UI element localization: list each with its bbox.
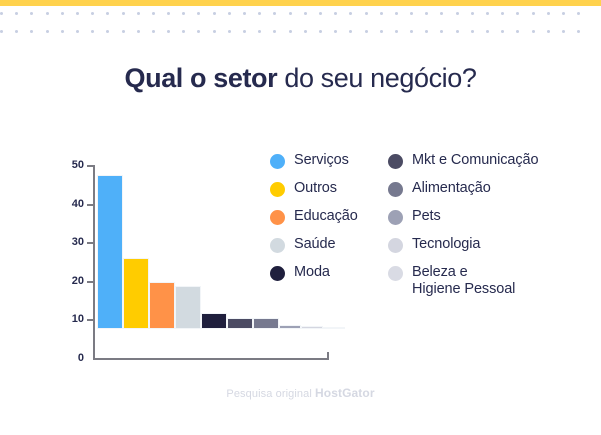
decorative-dot bbox=[440, 30, 443, 33]
dot-row-bottom bbox=[0, 30, 601, 34]
decorative-dot bbox=[258, 30, 261, 33]
footer-credit: Pesquisa original HostGator bbox=[0, 386, 601, 400]
y-axis-tick-label: 30 bbox=[58, 237, 84, 247]
legend-color-dot-icon bbox=[388, 238, 403, 253]
legend-color-dot-icon bbox=[270, 154, 285, 169]
decorative-dot bbox=[380, 12, 383, 15]
legend-color-dot-icon bbox=[388, 182, 403, 197]
decorative-dot bbox=[106, 12, 109, 15]
page-title: Qual o setor do seu negócio? bbox=[0, 63, 601, 94]
brand-name: HostGator bbox=[315, 386, 375, 400]
decorative-dot bbox=[167, 12, 170, 15]
legend-item-label: Mkt e Comunicação bbox=[412, 152, 538, 169]
legend-item[interactable]: Saúde bbox=[270, 236, 385, 255]
decorative-dot bbox=[532, 12, 535, 15]
legend-item[interactable]: Mkt e Comunicação bbox=[388, 152, 588, 171]
chart-bar bbox=[323, 327, 345, 329]
y-axis-tick-mark bbox=[87, 281, 94, 283]
decorative-dot bbox=[122, 12, 125, 15]
decorative-dot bbox=[76, 12, 79, 15]
legend-color-dot-icon bbox=[270, 266, 285, 281]
decorative-dot bbox=[365, 30, 368, 33]
legend-item[interactable]: Moda bbox=[270, 264, 385, 283]
chart-bar bbox=[201, 313, 227, 329]
legend-item-label: Moda bbox=[294, 264, 330, 281]
legend-item[interactable]: Tecnologia bbox=[388, 236, 588, 255]
decorative-dot bbox=[289, 30, 292, 33]
decorative-dot bbox=[532, 30, 535, 33]
decorative-dot bbox=[471, 12, 474, 15]
footer-prefix: Pesquisa original bbox=[226, 388, 315, 400]
legend-item-label: Saúde bbox=[294, 236, 335, 253]
chart-bar bbox=[279, 325, 301, 329]
decorative-dot bbox=[410, 12, 413, 15]
decorative-dot bbox=[349, 12, 352, 15]
decorative-dot bbox=[228, 30, 231, 33]
y-axis-tick-label: 20 bbox=[58, 276, 84, 286]
decorative-dot bbox=[182, 30, 185, 33]
chart-bar bbox=[149, 282, 175, 329]
decorative-dot bbox=[197, 30, 200, 33]
decorative-dot bbox=[456, 30, 459, 33]
legend-item-label: Beleza e Higiene Pessoal bbox=[412, 264, 515, 298]
decorative-dot bbox=[577, 12, 580, 15]
decorative-dot bbox=[182, 12, 185, 15]
legend-item[interactable]: Outros bbox=[270, 180, 385, 199]
decorative-dot bbox=[410, 30, 413, 33]
decorative-dot bbox=[425, 12, 428, 15]
legend-column-right: Mkt e ComunicaçãoAlimentaçãoPetsTecnolog… bbox=[388, 152, 588, 307]
legend-item[interactable]: Beleza e Higiene Pessoal bbox=[388, 264, 588, 298]
chart-bar bbox=[175, 286, 201, 329]
decorative-dot bbox=[213, 12, 216, 15]
decorative-dot bbox=[289, 12, 292, 15]
chart-bar bbox=[301, 326, 323, 329]
decorative-dot bbox=[562, 30, 565, 33]
legend-color-dot-icon bbox=[270, 238, 285, 253]
y-axis-tick-label: 10 bbox=[58, 314, 84, 324]
decorative-dot bbox=[91, 12, 94, 15]
decorative-dot bbox=[30, 12, 33, 15]
decorative-dot bbox=[258, 12, 261, 15]
decorative-dot bbox=[152, 30, 155, 33]
dot-pattern-decoration bbox=[0, 7, 601, 41]
chart-bar bbox=[253, 318, 279, 329]
legend-item-label: Pets bbox=[412, 208, 441, 225]
page-title-regular: do seu negócio? bbox=[277, 63, 476, 93]
decorative-dot bbox=[501, 12, 504, 15]
decorative-dot bbox=[61, 30, 64, 33]
legend-color-dot-icon bbox=[270, 182, 285, 197]
decorative-dot bbox=[0, 12, 3, 15]
decorative-dot bbox=[0, 30, 3, 33]
decorative-dot bbox=[273, 12, 276, 15]
decorative-dot bbox=[243, 30, 246, 33]
decorative-dot bbox=[243, 12, 246, 15]
y-axis-labels: 01020304050 bbox=[58, 160, 84, 360]
x-axis-line bbox=[93, 358, 329, 360]
decorative-dot bbox=[562, 12, 565, 15]
decorative-dot bbox=[30, 30, 33, 33]
legend-color-dot-icon bbox=[388, 210, 403, 225]
decorative-dot bbox=[319, 30, 322, 33]
decorative-dot bbox=[304, 12, 307, 15]
chart-legend: ServiçosOutrosEducaçãoSaúdeModa Mkt e Co… bbox=[270, 152, 590, 292]
legend-item[interactable]: Serviços bbox=[270, 152, 385, 171]
decorative-dot bbox=[547, 30, 550, 33]
page-title-bold: Qual o setor bbox=[125, 63, 278, 93]
decorative-dot bbox=[15, 30, 18, 33]
legend-color-dot-icon bbox=[388, 266, 403, 281]
legend-item[interactable]: Pets bbox=[388, 208, 588, 227]
decorative-dot bbox=[334, 30, 337, 33]
decorative-dot bbox=[486, 30, 489, 33]
legend-item[interactable]: Educação bbox=[270, 208, 385, 227]
legend-item[interactable]: Alimentação bbox=[388, 180, 588, 199]
decorative-dot bbox=[349, 30, 352, 33]
decorative-dot bbox=[152, 12, 155, 15]
decorative-dot bbox=[273, 30, 276, 33]
decorative-dot bbox=[486, 12, 489, 15]
dot-row-top bbox=[0, 12, 601, 16]
decorative-dot bbox=[137, 12, 140, 15]
decorative-dot bbox=[395, 30, 398, 33]
decorative-dot bbox=[577, 30, 580, 33]
decorative-dot bbox=[15, 12, 18, 15]
decorative-dot bbox=[501, 30, 504, 33]
y-axis-tick-label: 40 bbox=[58, 199, 84, 209]
decorative-dot bbox=[547, 12, 550, 15]
y-axis-tick-mark bbox=[87, 204, 94, 206]
decorative-dot bbox=[365, 12, 368, 15]
chart-bar bbox=[97, 175, 123, 329]
decorative-dot bbox=[91, 30, 94, 33]
decorative-dot bbox=[425, 30, 428, 33]
legend-item-label: Alimentação bbox=[412, 180, 491, 197]
top-accent-bar bbox=[0, 0, 601, 6]
legend-item-label: Educação bbox=[294, 208, 358, 225]
decorative-dot bbox=[228, 12, 231, 15]
decorative-dot bbox=[197, 12, 200, 15]
decorative-dot bbox=[516, 30, 519, 33]
decorative-dot bbox=[516, 12, 519, 15]
y-axis-tick-mark bbox=[87, 319, 94, 321]
decorative-dot bbox=[167, 30, 170, 33]
legend-item-label: Tecnologia bbox=[412, 236, 480, 253]
decorative-dot bbox=[213, 30, 216, 33]
chart-bar bbox=[123, 258, 149, 329]
decorative-dot bbox=[106, 30, 109, 33]
legend-color-dot-icon bbox=[388, 154, 403, 169]
decorative-dot bbox=[304, 30, 307, 33]
decorative-dot bbox=[61, 12, 64, 15]
legend-color-dot-icon bbox=[270, 210, 285, 225]
decorative-dot bbox=[46, 30, 49, 33]
y-axis-tick-mark bbox=[87, 242, 94, 244]
y-axis-tick-label: 0 bbox=[58, 353, 84, 363]
decorative-dot bbox=[46, 12, 49, 15]
legend-item-label: Serviços bbox=[294, 152, 349, 169]
decorative-dot bbox=[380, 30, 383, 33]
decorative-dot bbox=[122, 30, 125, 33]
legend-item-label: Outros bbox=[294, 180, 337, 197]
chart-bar bbox=[227, 318, 253, 329]
decorative-dot bbox=[440, 12, 443, 15]
legend-column-left: ServiçosOutrosEducaçãoSaúdeModa bbox=[270, 152, 385, 292]
y-axis-tick-mark bbox=[87, 165, 94, 167]
decorative-dot bbox=[471, 30, 474, 33]
y-axis-tick-label: 50 bbox=[58, 160, 84, 170]
decorative-dot bbox=[456, 12, 459, 15]
decorative-dot bbox=[395, 12, 398, 15]
decorative-dot bbox=[334, 12, 337, 15]
infographic-page: Qual o setor do seu negócio? 01020304050… bbox=[0, 0, 601, 435]
decorative-dot bbox=[137, 30, 140, 33]
decorative-dot bbox=[76, 30, 79, 33]
decorative-dot bbox=[319, 12, 322, 15]
